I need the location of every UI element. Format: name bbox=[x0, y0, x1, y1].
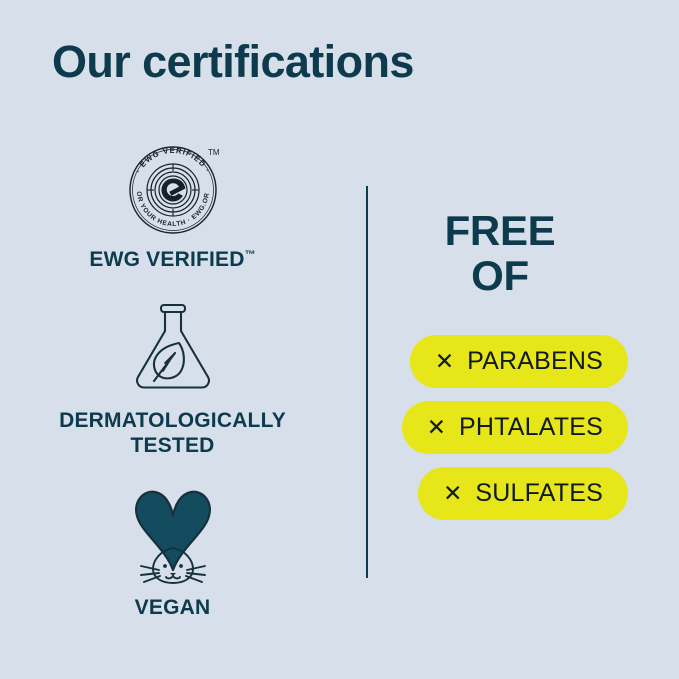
free-of-heading-line2: OF bbox=[380, 253, 620, 298]
free-of-pill-phtalates[interactable]: ✕ PHTALATES bbox=[402, 401, 628, 454]
free-of-heading: FREE OF bbox=[380, 208, 620, 299]
cross-icon: ✕ bbox=[427, 416, 446, 439]
certification-item-ewg: · EWG VERIFIED · · FOR YOUR HEALTH · EWG… bbox=[0, 138, 345, 273]
certification-label-text: EWG VERIFIED bbox=[89, 248, 244, 271]
free-of-pill-parabens[interactable]: ✕ PARABENS bbox=[410, 335, 628, 388]
certification-label-line2: TESTED bbox=[0, 434, 345, 459]
free-of-list: ✕ PARABENS ✕ PHTALATES ✕ SULFATES bbox=[380, 335, 628, 520]
free-of-pill-sulfates[interactable]: ✕ SULFATES bbox=[418, 467, 628, 520]
cross-icon: ✕ bbox=[443, 482, 462, 505]
free-of-pill-label: SULFATES bbox=[475, 479, 603, 508]
certification-label-vegan: VEGAN bbox=[0, 596, 345, 621]
free-of-pill-label: PARABENS bbox=[467, 347, 603, 376]
free-of-pill-label: PHTALATES bbox=[459, 413, 603, 442]
certification-item-vegan: VEGAN bbox=[0, 482, 345, 621]
certification-label-line1: DERMATOLOGICALLY bbox=[0, 409, 345, 434]
certification-item-dermatologically-tested: DERMATOLOGICALLY TESTED bbox=[0, 295, 345, 459]
bunny-heart-ears-icon bbox=[0, 482, 345, 586]
svg-text:TM: TM bbox=[208, 148, 220, 157]
free-of-heading-line1: FREE bbox=[380, 208, 620, 253]
column-divider bbox=[366, 186, 368, 578]
page-title: Our certifications bbox=[52, 36, 414, 88]
trademark-symbol: ™ bbox=[245, 249, 256, 261]
ewg-verified-seal-icon: · EWG VERIFIED · · FOR YOUR HEALTH · EWG… bbox=[0, 138, 345, 238]
certification-label-dermatologically-tested: DERMATOLOGICALLY TESTED bbox=[0, 409, 345, 459]
certifications-panel: Our certifications · EWG VERIFIED · bbox=[0, 0, 679, 679]
flask-leaf-icon bbox=[0, 295, 345, 399]
certifications-column: · EWG VERIFIED · · FOR YOUR HEALTH · EWG… bbox=[0, 130, 345, 679]
cross-icon: ✕ bbox=[435, 350, 454, 373]
certification-label-ewg: EWG VERIFIED™ bbox=[0, 248, 345, 273]
free-of-column: FREE OF ✕ PARABENS ✕ PHTALATES ✕ SULFATE… bbox=[380, 130, 679, 679]
